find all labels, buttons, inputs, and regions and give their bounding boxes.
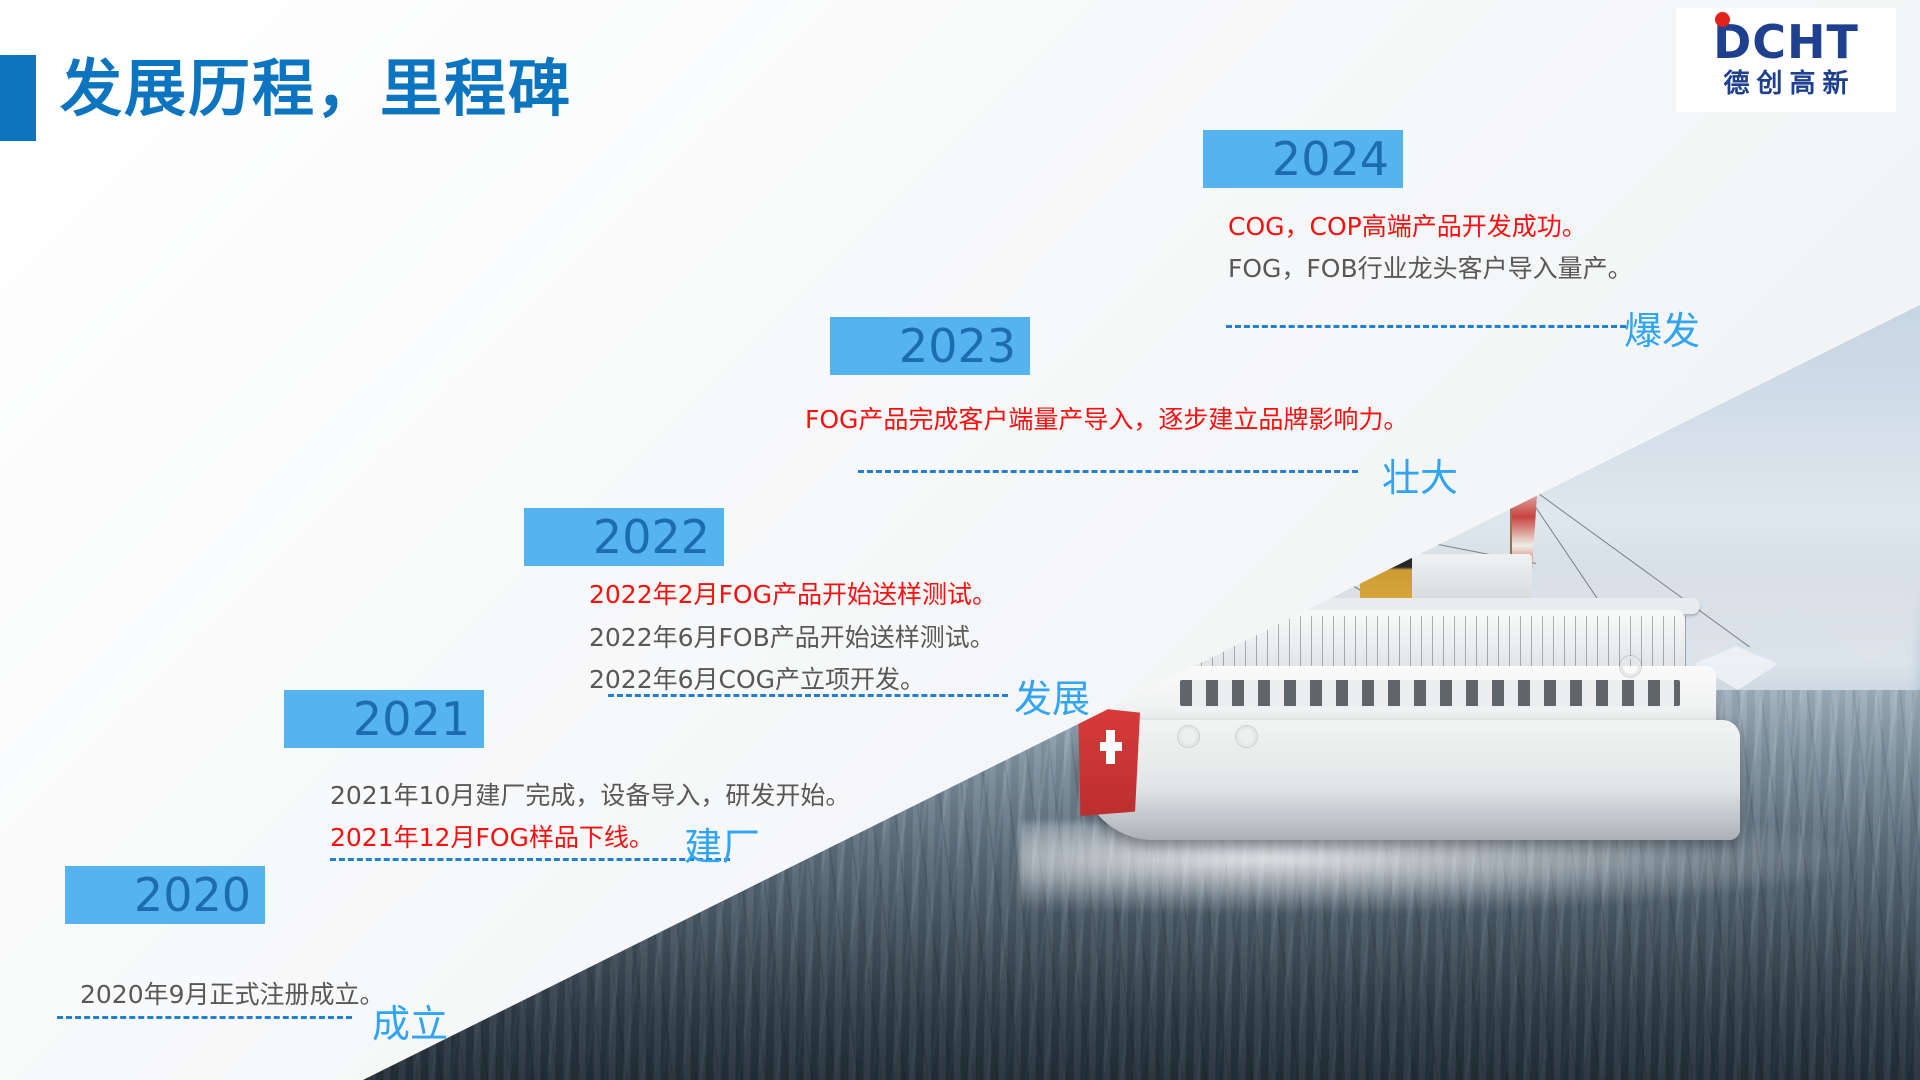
milestone-2022-line-2: 2022年6月FOB产品开始送样测试。 (589, 618, 995, 654)
stage-label-2024: 爆发 (1624, 300, 1700, 355)
milestone-2024-line-1: COG，COP高端产品开发成功。 (1228, 207, 1587, 243)
stage-label-2021: 建厂 (684, 816, 760, 871)
stage-label-2023: 壮大 (1382, 447, 1458, 502)
milestone-2022-line-3: 2022年6月COG产立项开发。 (589, 660, 925, 696)
year-badge-2021[interactable]: 2021 (284, 690, 484, 748)
stage-label-2020: 成立 (372, 993, 448, 1048)
year-badge-2022[interactable]: 2022 (524, 508, 724, 566)
milestone-2023-dash (858, 470, 1358, 473)
milestone-2024-line-2: FOG，FOB行业龙头客户导入量产。 (1228, 249, 1633, 285)
logo-wordmark-text: DCHT (1713, 15, 1859, 69)
logo-wordmark: DCHT (1713, 19, 1859, 65)
logo-chinese-name: 德创高新 (1723, 69, 1855, 100)
year-badge-2020[interactable]: 2020 (65, 866, 265, 924)
milestone-2022-dash (608, 694, 1008, 697)
milestone-2021-dash (330, 858, 730, 861)
milestone-2024-dash (1226, 325, 1626, 328)
milestone-2020-line-1: 2020年9月正式注册成立。 (80, 975, 385, 1011)
year-badge-2024[interactable]: 2024 (1203, 130, 1403, 188)
slide-canvas: 发展历程，里程碑 DCHT 德创高新 2024 COG，COP高端产品开发成功。… (0, 0, 1920, 1080)
stage-label-2022: 发展 (1014, 668, 1090, 723)
page-title: 发展历程，里程碑 (60, 38, 572, 128)
photo-steamboat (1060, 470, 1820, 920)
milestone-2022-line-1: 2022年2月FOG产品开始送样测试。 (589, 575, 997, 611)
milestone-2021-line-2: 2021年12月FOG样品下线。 (330, 818, 654, 854)
milestone-2020-dash (57, 1016, 352, 1019)
milestone-2021-line-1: 2021年10月建厂完成，设备导入，研发开始。 (330, 776, 850, 812)
background-photo (0, 0, 1920, 1080)
year-badge-2023[interactable]: 2023 (830, 317, 1030, 375)
title-accent-bar (0, 55, 36, 141)
company-logo: DCHT 德创高新 (1676, 8, 1896, 112)
milestone-2023-line-1: FOG产品完成客户端量产导入，逐步建立品牌影响力。 (805, 400, 1408, 436)
